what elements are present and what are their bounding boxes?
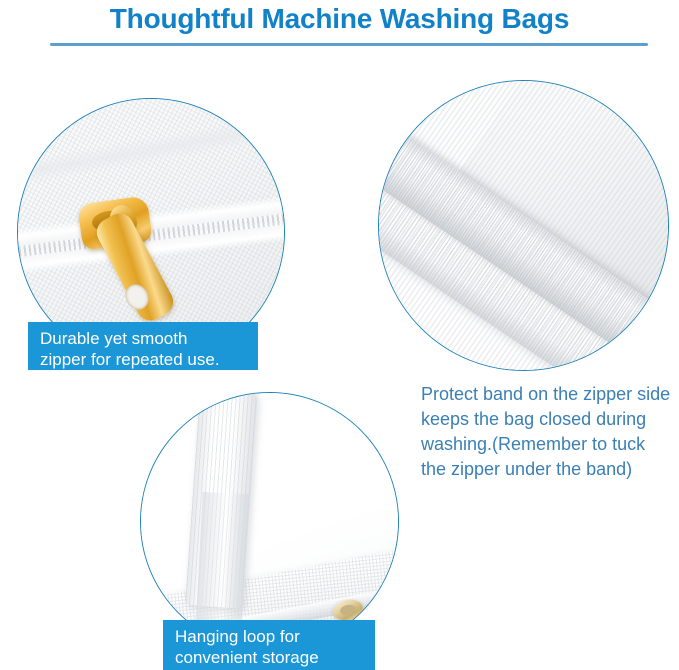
mesh-weave-overlay <box>378 80 669 371</box>
title-divider <box>50 43 648 46</box>
hanging-loop-strap-fold <box>195 492 248 634</box>
feature-image-protect-band <box>378 80 669 371</box>
feature-image-hanging-loop <box>140 392 399 651</box>
page-title: Thoughtful Machine Washing Bags <box>0 1 679 37</box>
callout-zipper: Durable yet smooth zipper for repeated u… <box>28 322 258 370</box>
callout-protect-band: Protect band on the zipper side keeps th… <box>421 382 673 482</box>
callout-hanging-loop: Hanging loop for convenient storage <box>163 620 375 670</box>
page-header: Thoughtful Machine Washing Bags <box>0 0 679 52</box>
